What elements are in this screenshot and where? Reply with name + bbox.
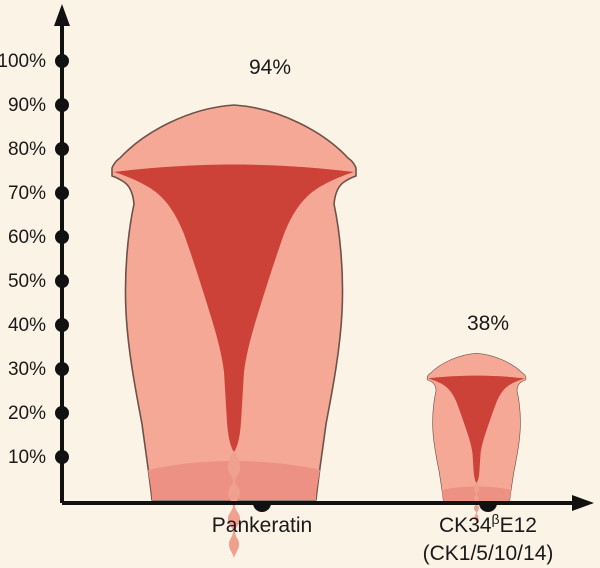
category-label-ck34be12: CK34βE12 bbox=[439, 511, 537, 537]
y-tick-label-40: 40% bbox=[8, 315, 46, 336]
y-tick-dot bbox=[55, 142, 69, 156]
value-label-ck34be12: 38% bbox=[467, 312, 509, 335]
ck-suffix: E12 bbox=[500, 514, 537, 537]
y-tick-dot bbox=[55, 362, 69, 376]
y-tick-dot bbox=[55, 98, 69, 112]
y-tick-label-100: 100% bbox=[0, 51, 46, 72]
y-tick-label-20: 20% bbox=[8, 403, 46, 424]
y-tick-dot bbox=[55, 450, 69, 464]
category-sublabel-ck34be12: (CK1/5/10/14) bbox=[423, 542, 554, 565]
y-tick-dot bbox=[55, 406, 69, 420]
ck-beta: β bbox=[492, 511, 500, 527]
value-label-pankeratin: 94% bbox=[249, 56, 291, 79]
y-tick-dot bbox=[55, 54, 69, 68]
y-tick-label-90: 90% bbox=[8, 95, 46, 116]
category-label-pankeratin: Pankeratin bbox=[212, 514, 312, 537]
ck-prefix: CK34 bbox=[439, 514, 492, 537]
chart-canvas: 100% 90% 80% 70% 60% 50% 40% 30% 20% 10% bbox=[0, 0, 600, 568]
uterus-bar-chart: 100% 90% 80% 70% 60% 50% 40% 30% 20% 10% bbox=[0, 0, 600, 568]
y-tick-label-70: 70% bbox=[8, 183, 46, 204]
y-tick-dot bbox=[55, 274, 69, 288]
y-tick-label-80: 80% bbox=[8, 139, 46, 160]
y-tick-label-60: 60% bbox=[8, 227, 46, 248]
y-tick-label-30: 30% bbox=[8, 359, 46, 380]
y-tick-dot bbox=[55, 230, 69, 244]
y-tick-dot bbox=[55, 186, 69, 200]
y-tick-label-50: 50% bbox=[8, 271, 46, 292]
y-tick-label-10: 10% bbox=[8, 447, 46, 468]
y-tick-dot bbox=[55, 318, 69, 332]
